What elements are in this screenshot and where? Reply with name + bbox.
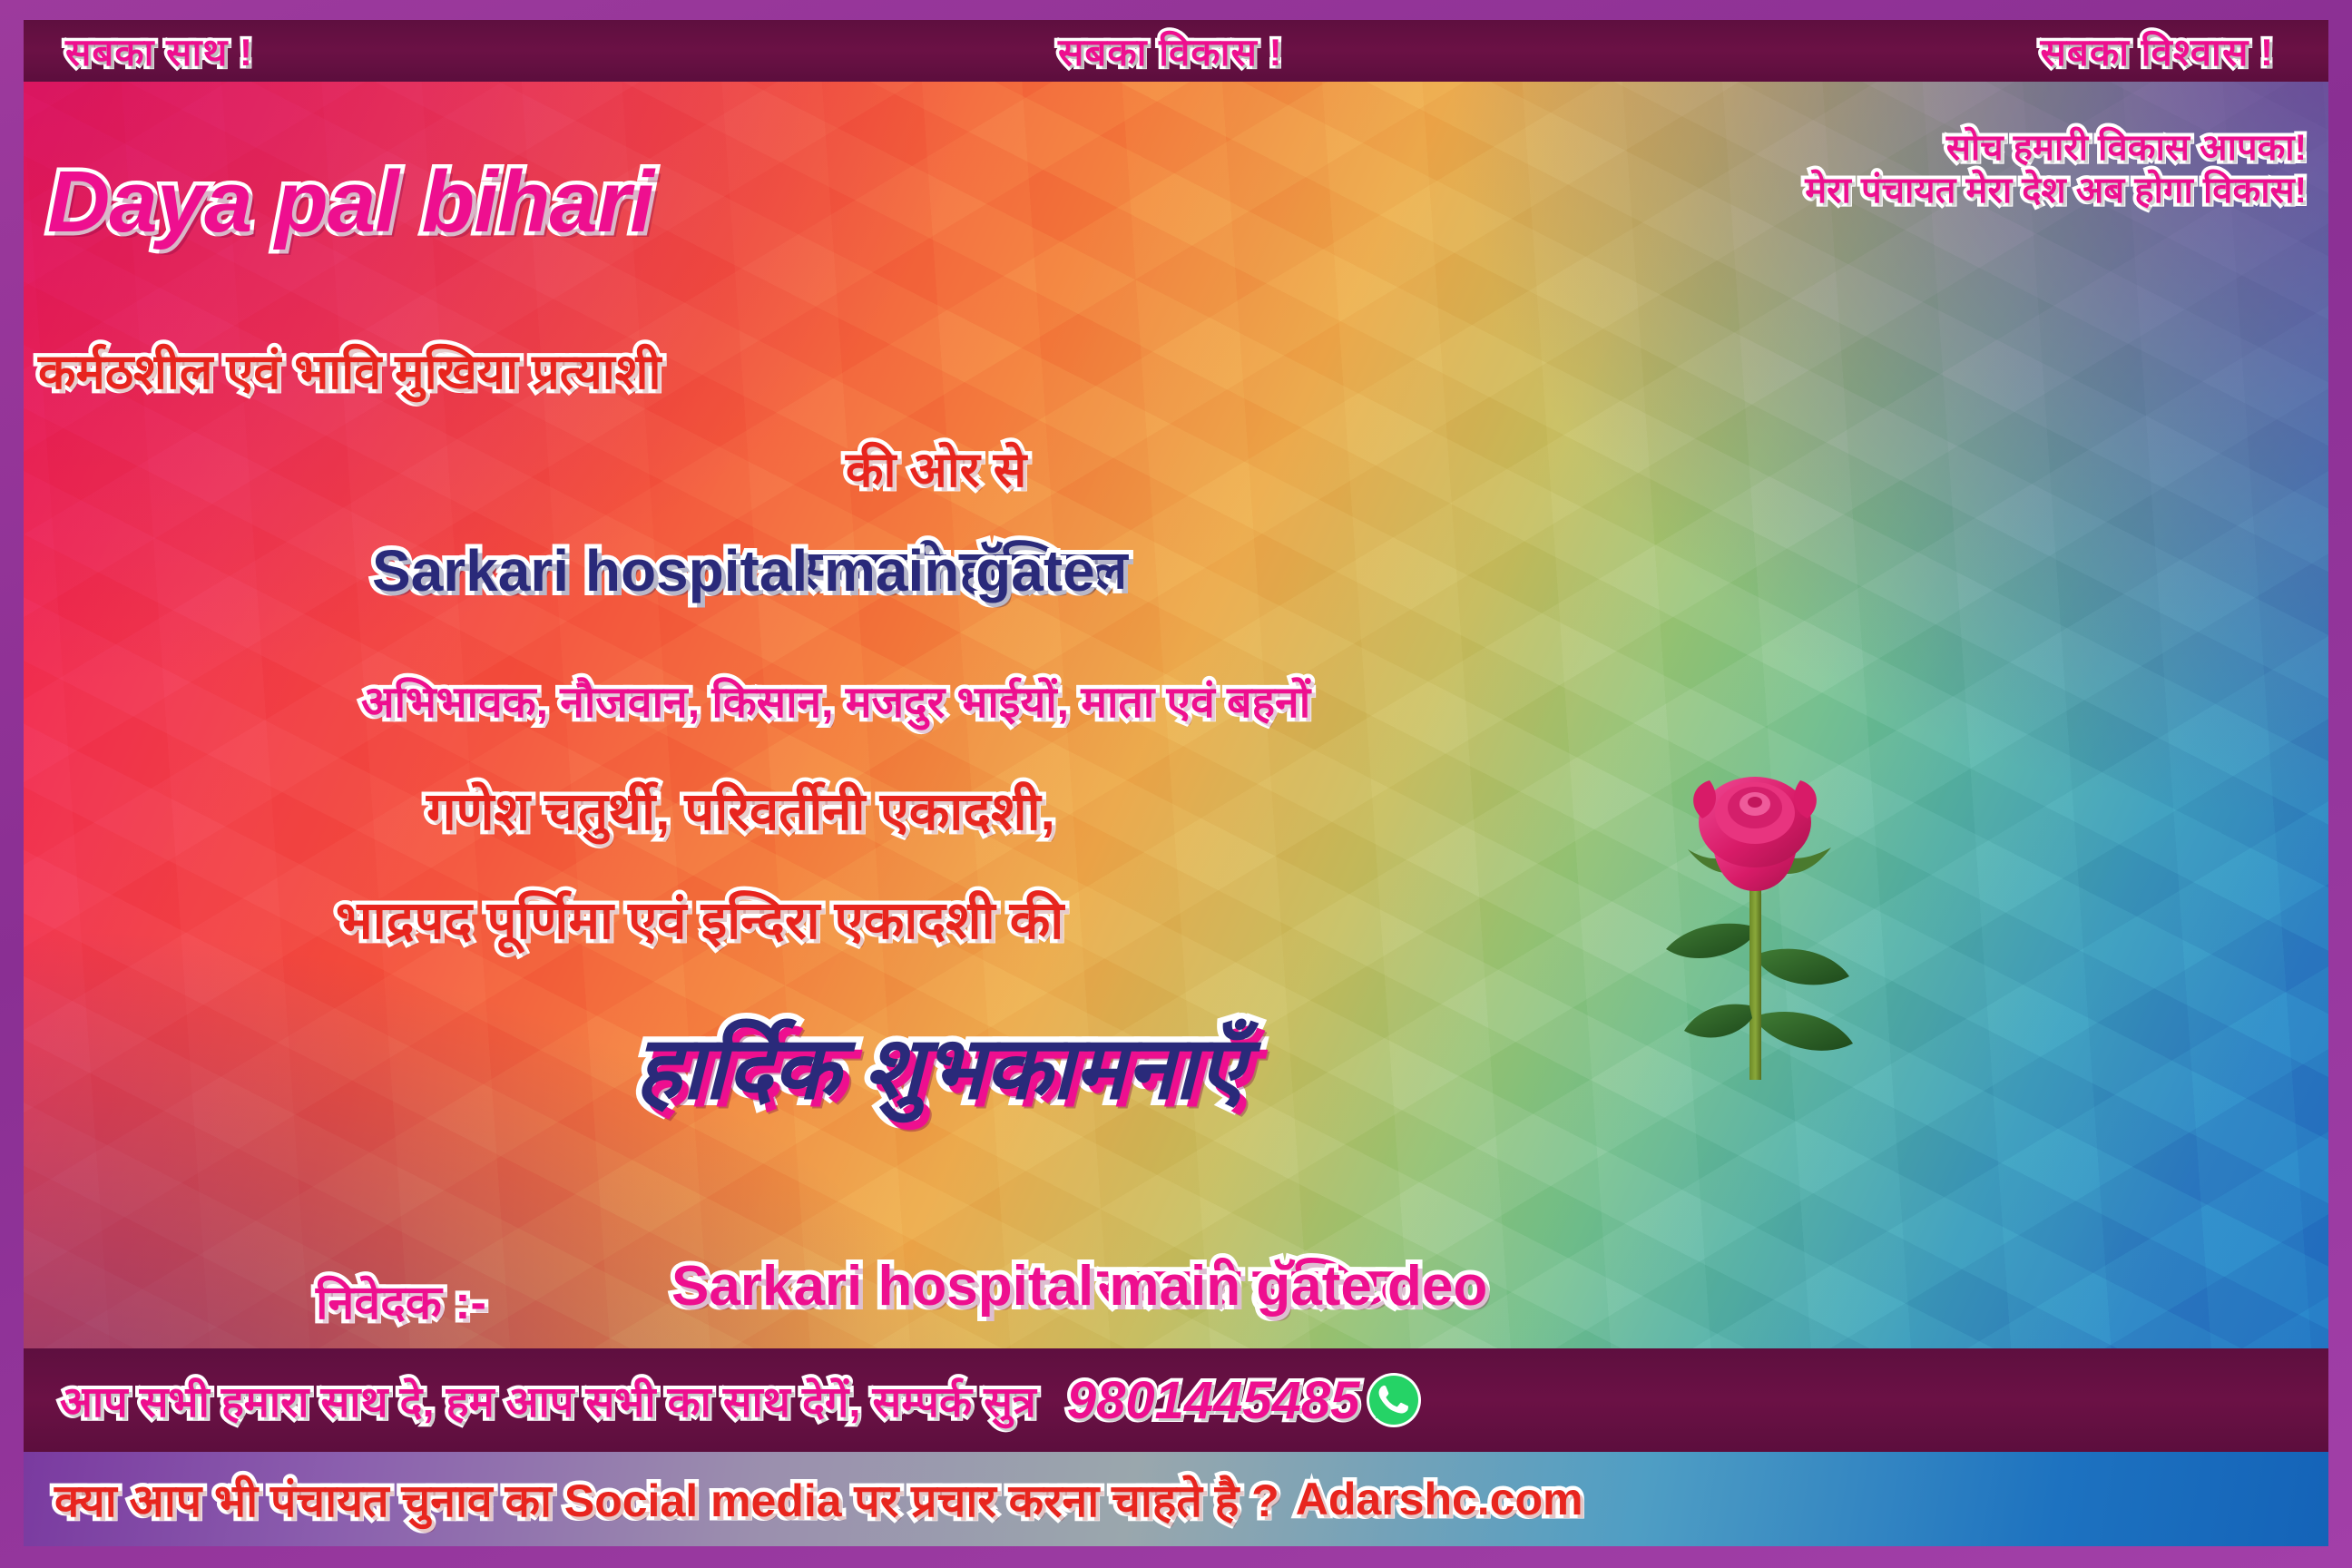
institution-line: सरकारी हॉस्पिटल Sarkari hospital main ga… [372, 537, 1570, 628]
greeting-headline: हार्दिक शुभकामनाएँ [635, 1005, 1245, 1124]
slogan-slot-3: सबका विश्वास ! [2040, 25, 2274, 77]
promo-message: क्या आप भी पंचायत चुनाव का Social media … [54, 1468, 1279, 1530]
promo-band: क्या आप भी पंचायत चुनाव का Social media … [24, 1452, 2328, 1546]
audience-line: अभिभावक, नौजवान, किसान, मजदुर भाईयों, मा… [361, 671, 1310, 730]
signoff-value-group: सरकारी हॉस्पिटल Sarkari hospital main ga… [671, 1254, 1851, 1345]
slogan-sabka-vishwas: सबका विश्वास ! [2040, 31, 2274, 73]
promo-website[interactable]: Adarshc.com [1296, 1473, 1583, 1525]
candidate-name: Daya pal bihari [47, 152, 653, 252]
contact-band: आप सभी हमारा साथ दे, हम आप सभी का साथ दे… [24, 1348, 2328, 1452]
top-right-slogan-block: सोच हमारी विकास आपका! मेरा पंचायत मेरा द… [1805, 127, 2307, 212]
candidate-designation: कर्मठशील एवं भावि मुखिया प्रत्याशी [38, 336, 661, 403]
festival-line-1: गणेश चतुर्थी, परिवर्तीनी एकादशी, [426, 773, 1055, 845]
contact-message: आप सभी हमारा साथ दे, हम आप सभी का साथ दे… [60, 1371, 1036, 1429]
pink-rose-icon [1624, 762, 1896, 1089]
institution-english: Sarkari hospital main gate [372, 537, 1095, 604]
slogan-sabka-vikas: सबका विकास ! [1058, 31, 1283, 73]
slogan-sabka-saath: सबका साथ ! [65, 31, 253, 73]
signoff-value: Sarkari hospital main gate deo [671, 1254, 1487, 1318]
slogan-mera-panchayat: मेरा पंचायत मेरा देश अब होगा विकास! [1805, 170, 2307, 212]
festival-line-2: भाद्रपद पूर्णिमा एवं इन्दिरा एकादशी की [336, 882, 1063, 954]
whatsapp-icon[interactable] [1365, 1371, 1423, 1429]
slogan-slot-2: सबका विकास ! [1058, 25, 1283, 77]
from-line: की ओर से [846, 434, 1026, 501]
slogan-soch-hamari: सोच हमारी विकास आपका! [1805, 127, 2307, 170]
election-greeting-poster: सबका साथ ! सबका विकास ! सबका विश्वास ! D… [0, 0, 2352, 1568]
top-slogan-band: सबका साथ ! सबका विकास ! सबका विश्वास ! [24, 20, 2328, 82]
slogan-slot-1: सबका साथ ! [65, 25, 253, 77]
contact-phone-number[interactable]: 9801445485 [1067, 1370, 1360, 1431]
signoff-label: निवेदक :- [316, 1269, 486, 1333]
